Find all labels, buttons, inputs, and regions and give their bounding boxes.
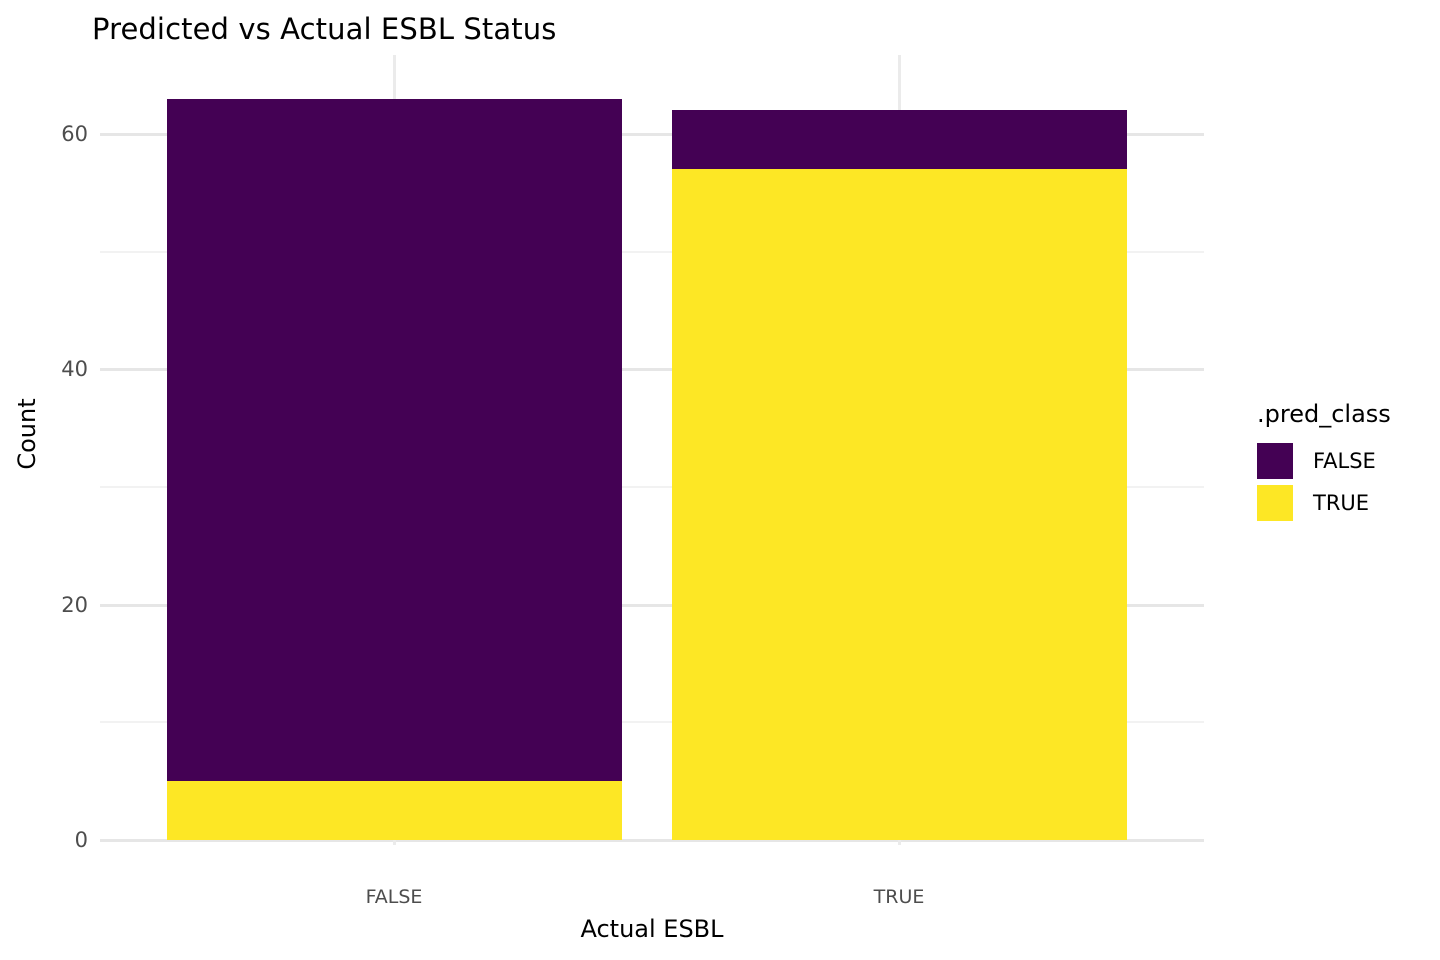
y-tick-label-40: 40 <box>8 357 88 381</box>
legend: .pred_class FALSETRUE <box>1245 400 1435 524</box>
bar-stack-false[interactable] <box>167 99 622 840</box>
plot-panel <box>100 55 1204 845</box>
x-tick-label-true: TRUE <box>874 886 925 908</box>
x-tick-label-false: FALSE <box>366 886 423 908</box>
legend-title: .pred_class <box>1257 400 1435 428</box>
y-axis-title: Count <box>13 384 41 484</box>
bar-stack-true[interactable] <box>672 110 1127 840</box>
bar-segment-true-pred-true[interactable] <box>672 169 1127 840</box>
legend-entry-true[interactable]: TRUE <box>1245 482 1435 524</box>
legend-entries: FALSETRUE <box>1245 440 1435 524</box>
x-axis-title: Actual ESBL <box>0 915 1304 943</box>
legend-swatch-true <box>1257 485 1293 521</box>
legend-label-true: TRUE <box>1313 491 1369 515</box>
legend-label-false: FALSE <box>1313 449 1376 473</box>
bar-segment-false-pred-true[interactable] <box>167 781 622 840</box>
bar-segment-false-pred-false[interactable] <box>167 99 622 781</box>
legend-swatch-false <box>1257 443 1293 479</box>
legend-entry-false[interactable]: FALSE <box>1245 440 1435 482</box>
chart-title: Predicted vs Actual ESBL Status <box>92 12 556 46</box>
y-tick-label-20: 20 <box>8 593 88 617</box>
y-tick-label-60: 60 <box>8 122 88 146</box>
bar-segment-true-pred-false[interactable] <box>672 110 1127 169</box>
y-tick-label-0: 0 <box>8 828 88 852</box>
